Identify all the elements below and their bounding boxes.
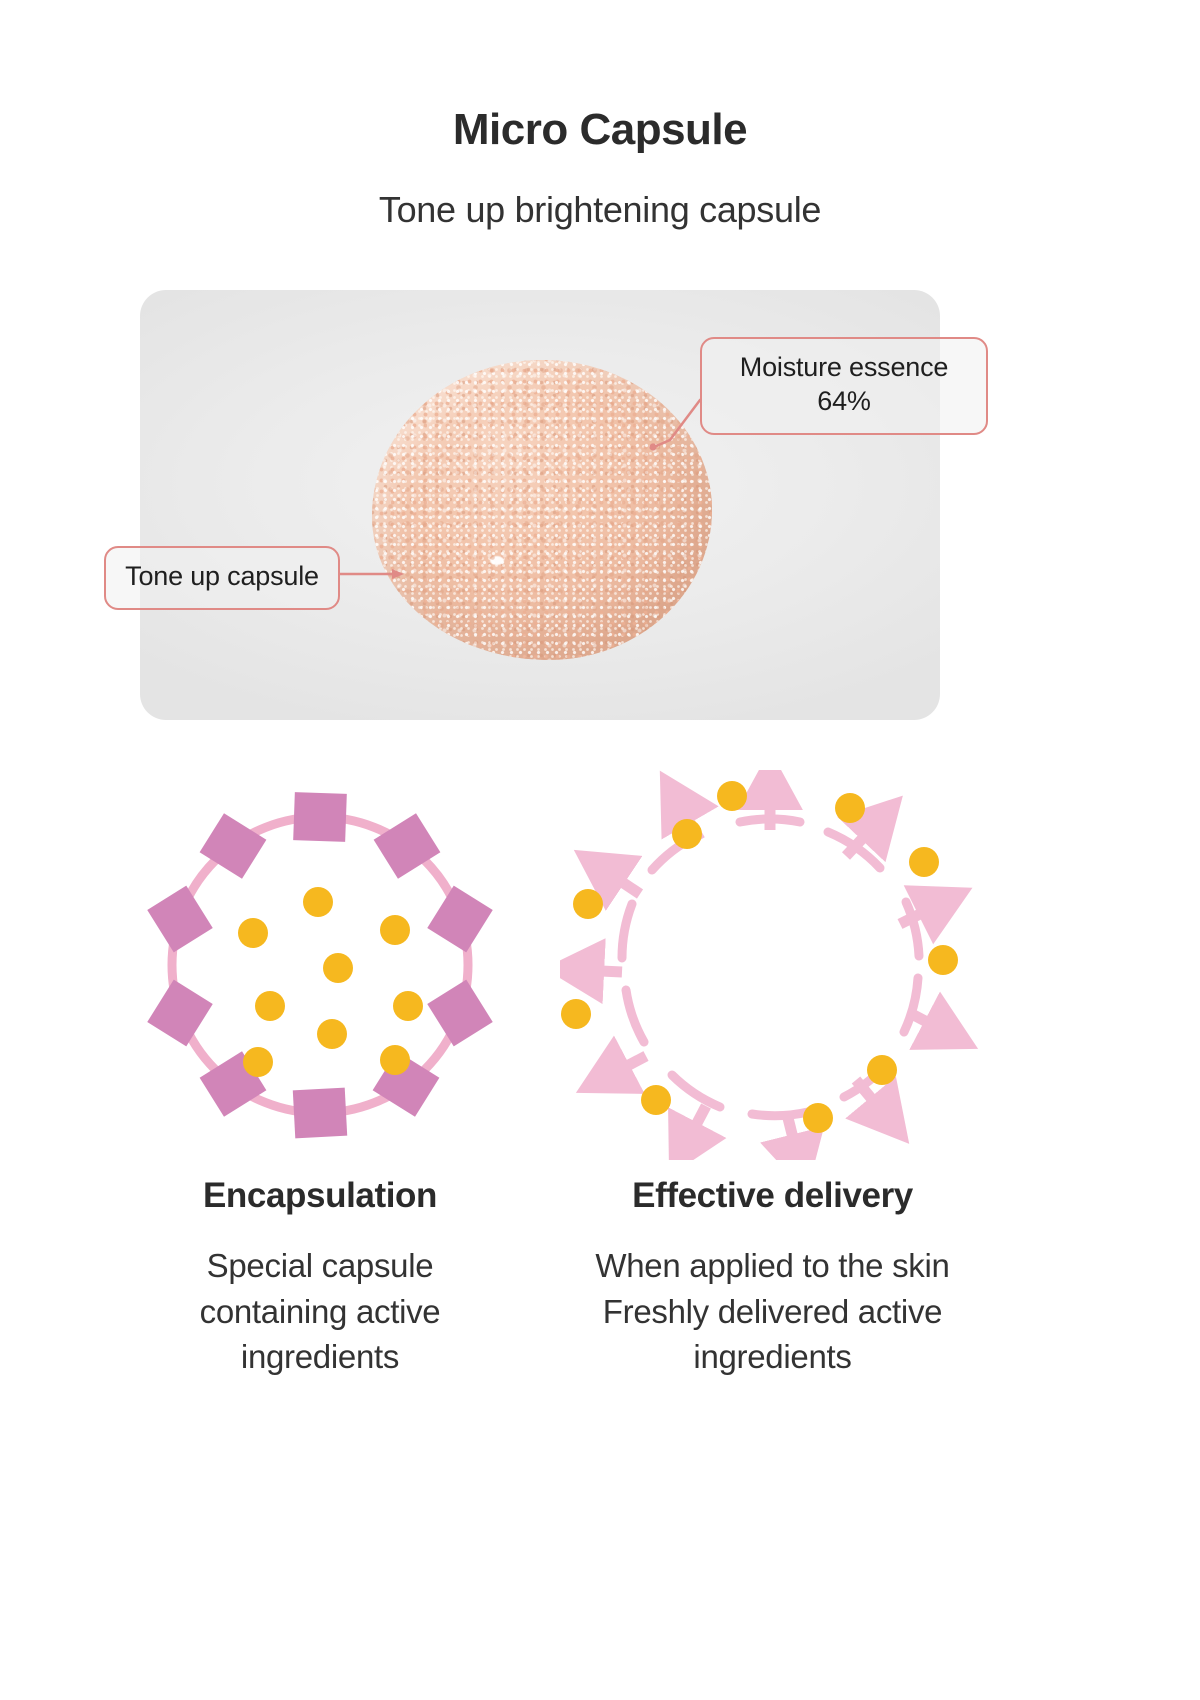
page-title: Micro Capsule [0,104,1200,157]
effective-delivery-diagram [560,770,980,1160]
diagram-row [0,770,1200,1160]
caption-heading-encapsulation: Encapsulation [110,1175,530,1217]
caption-effective-delivery: Effective delivery When applied to the s… [545,1175,1000,1380]
header: Micro Capsule Tone up brightening capsul… [0,104,1200,232]
delivery-svg [560,770,980,1160]
caption-body-encapsulation: Special capsule containing active ingred… [110,1243,530,1380]
page-subtitle: Tone up brightening capsule [0,187,1200,232]
active-ingredient-dots [238,887,423,1077]
caption-heading-effective-delivery: Effective delivery [545,1175,1000,1217]
tone-up-leader-line [338,560,458,600]
delivery-outward-arrows [580,786,946,1158]
sphere-highlight [490,556,504,565]
encapsulation-diagram [110,770,530,1160]
capsule-wall-squares [147,792,493,1138]
callout-moisture-essence: Moisture essence 64% [700,337,988,435]
callout-tone-up-capsule: Tone up capsule [104,546,340,610]
caption-encapsulation: Encapsulation Special capsule containing… [110,1175,530,1380]
encapsulation-svg [110,770,530,1160]
callout-moisture-line2: 64% [716,385,972,419]
infographic-page: Micro Capsule Tone up brightening capsul… [0,0,1200,1700]
callout-moisture-line1: Moisture essence [716,351,972,385]
caption-body-effective-delivery: When applied to the skin Freshly deliver… [545,1243,1000,1380]
callout-tone-line1: Tone up capsule [116,560,328,594]
